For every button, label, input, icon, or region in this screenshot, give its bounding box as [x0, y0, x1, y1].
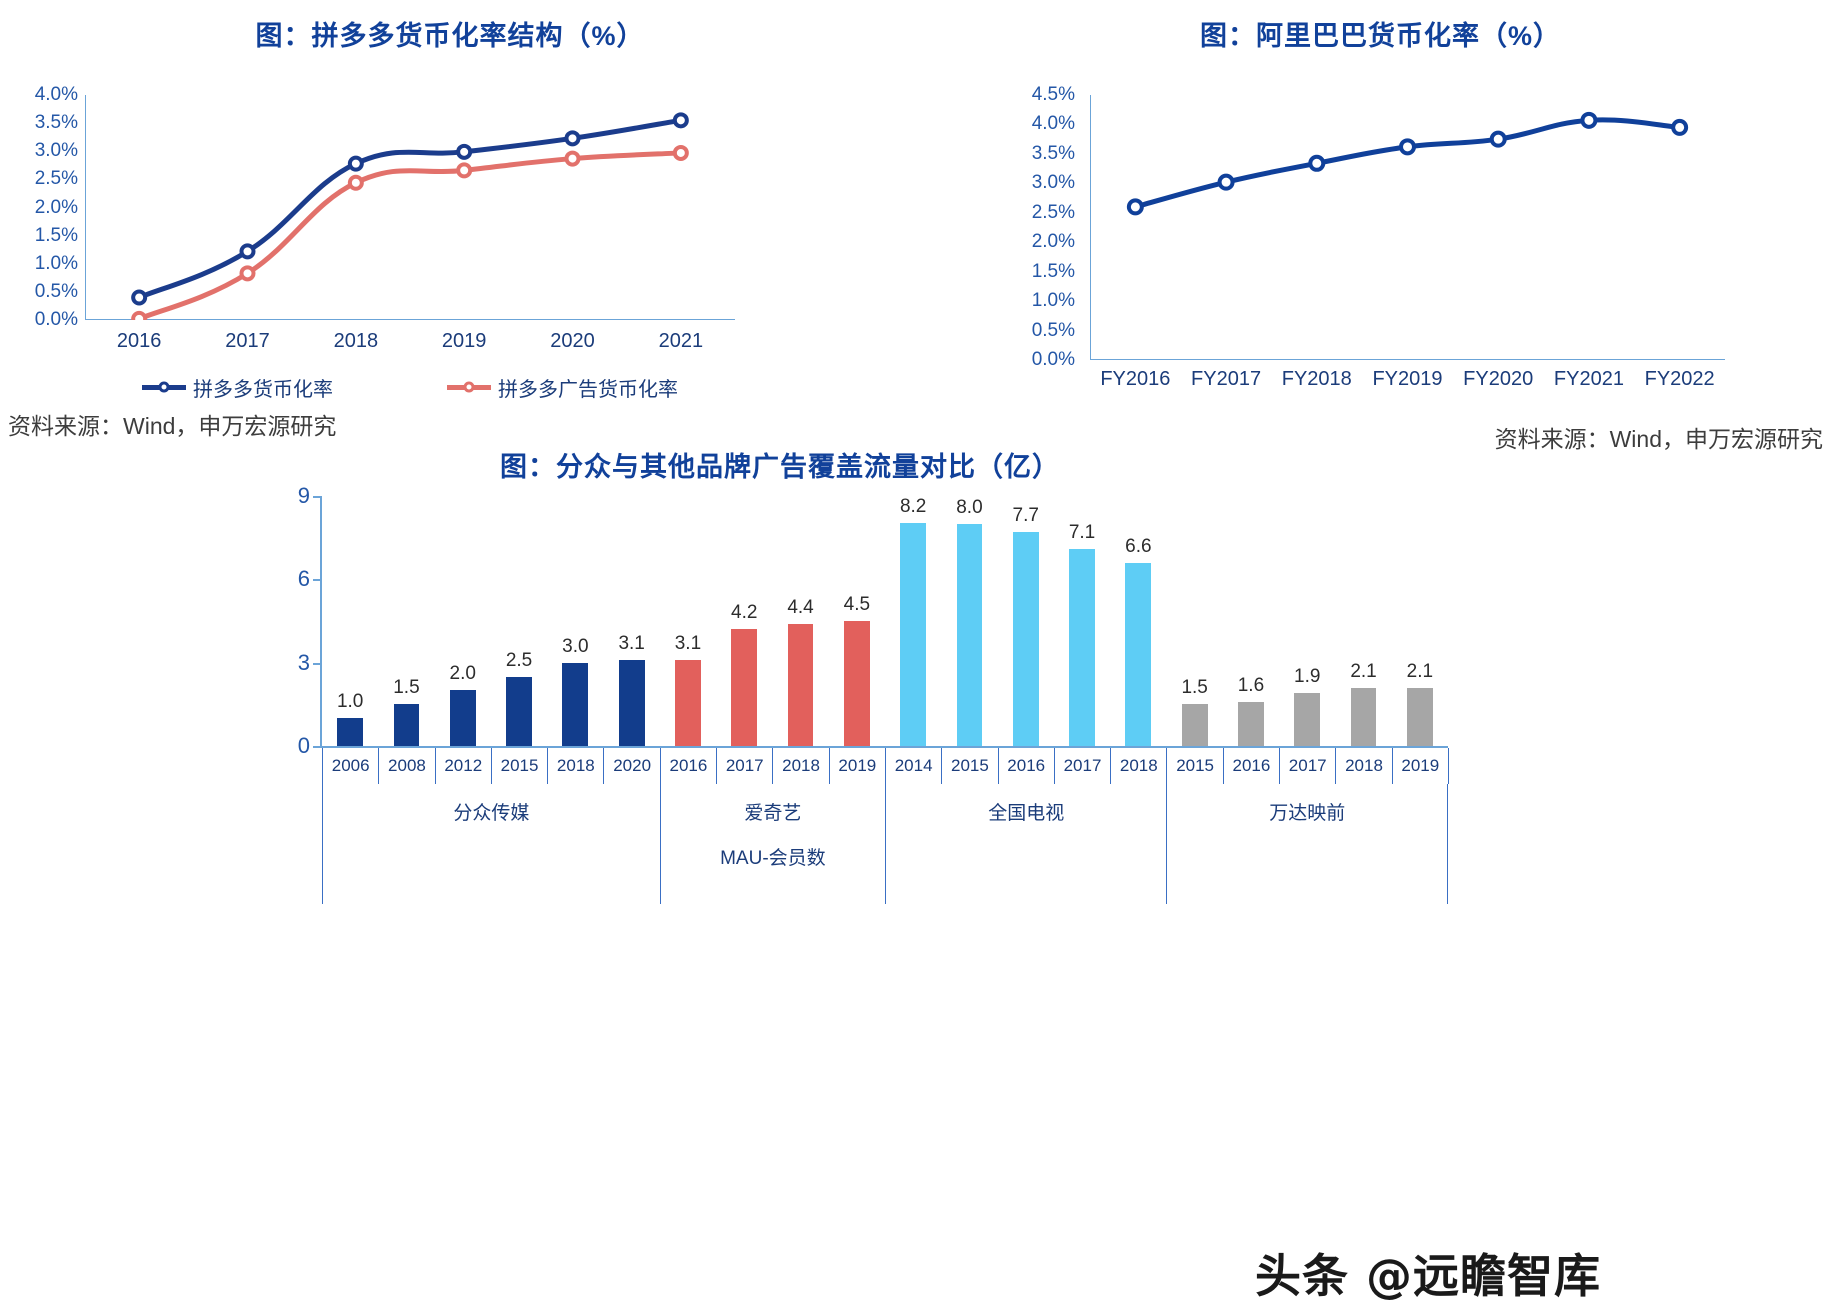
chart3-group-sublabel: MAU-会员数	[720, 843, 826, 870]
chart3-bar-value-label: 4.4	[787, 597, 813, 619]
chart3-bar-slot[interactable]: 3.1	[604, 496, 660, 746]
chart1-y-tick-label: 0.0%	[35, 309, 78, 331]
chart3-bar[interactable]	[337, 718, 363, 746]
chart3-category-label: 2019	[829, 748, 885, 784]
chart3-bar-slot[interactable]: 1.5	[378, 496, 434, 746]
chart2-x-tick-label: FY2019	[1372, 368, 1442, 391]
chart2-title: 图：阿里巴巴货币化率（%）	[930, 14, 1831, 53]
chart3-bar-slot[interactable]: 6.6	[1110, 496, 1166, 746]
chart3-category-label: 2015	[1166, 748, 1222, 784]
chart3-bar[interactable]	[900, 523, 926, 746]
chart3-bar-value-label: 3.1	[675, 633, 701, 655]
chart3-bar-value-label: 2.0	[450, 663, 476, 685]
legend-marker-icon	[159, 382, 170, 393]
chart3-group-row: 分众传媒爱奇艺MAU-会员数全国电视万达映前	[322, 784, 1448, 904]
chart3-bar-slot[interactable]: 7.7	[998, 496, 1054, 746]
chart3-category-label: 2016	[660, 748, 716, 784]
legend-line-swatch	[447, 385, 491, 390]
chart3-bar-value-label: 6.6	[1125, 536, 1151, 558]
chart3-bar-slot[interactable]: 2.0	[435, 496, 491, 746]
chart1-y-tick-label: 4.0%	[35, 84, 78, 106]
chart3-bar[interactable]	[450, 690, 476, 746]
chart3-y-tick-label: 3	[262, 650, 310, 676]
chart3-bar[interactable]	[1013, 532, 1039, 746]
chart3-bar[interactable]	[1125, 563, 1151, 746]
chart3-bar-slot[interactable]: 1.5	[1167, 496, 1223, 746]
chart2-y-tick-label: 1.5%	[1032, 261, 1075, 283]
chart2-y-tick-label: 3.0%	[1032, 172, 1075, 194]
chart2-x-tick-label: FY2016	[1100, 368, 1170, 391]
chart3-bar-slot[interactable]: 8.2	[885, 496, 941, 746]
chart1-x-tick-label: 2020	[550, 330, 595, 353]
chart1-legend-label: 拼多多货币化率	[193, 373, 333, 402]
chart3-bar[interactable]	[506, 677, 532, 746]
chart2-y-tick-label: 4.0%	[1032, 113, 1075, 135]
chart1-legend-item[interactable]: 拼多多广告货币化率	[447, 373, 678, 402]
chart2-x-axis-labels: FY2016FY2017FY2018FY2019FY2020FY2021FY20…	[1090, 368, 1725, 398]
chart3-category-label: 2019	[1392, 748, 1448, 784]
chart3-bar-slot[interactable]: 2.1	[1392, 496, 1448, 746]
chart3-group-label-cell: 爱奇艺MAU-会员数	[660, 784, 885, 904]
chart3-y-tick-mark	[313, 663, 321, 665]
chart3-category-label: 2017	[716, 748, 772, 784]
chart3-category-label: 2020	[603, 748, 659, 784]
chart3-bar-slot[interactable]: 1.9	[1279, 496, 1335, 746]
chart3-bar-slot[interactable]: 8.0	[941, 496, 997, 746]
chart3-bar[interactable]	[1351, 688, 1377, 746]
chart3-bar[interactable]	[394, 704, 420, 746]
chart3-bar-value-label: 8.0	[956, 497, 982, 519]
chart3-group-name: 分众传媒	[453, 798, 529, 825]
alibaba-monetization-chart-panel: 图：阿里巴巴货币化率（%） 0.0%0.5%1.0%1.5%2.0%2.5%3.…	[930, 0, 1831, 470]
chart2-x-tick-label: FY2022	[1645, 368, 1715, 391]
chart3-group-label-cell: 全国电视	[885, 784, 1167, 904]
brand-ad-traffic-chart-panel: 图：分众与其他品牌广告覆盖流量对比（亿） 1.01.52.02.53.03.13…	[0, 440, 1831, 1009]
chart1-plot-area	[85, 95, 735, 320]
chart3-bar-value-label: 3.0	[562, 636, 588, 658]
chart3-y-tick-mark	[313, 496, 321, 498]
chart3-bar-slot[interactable]: 4.4	[772, 496, 828, 746]
chart3-bar-slot[interactable]: 3.0	[547, 496, 603, 746]
chart3-bar[interactable]	[619, 660, 645, 746]
chart3-title: 图：分众与其他品牌广告覆盖流量对比（亿）	[0, 445, 1560, 484]
chart3-category-label: 2018	[1110, 748, 1166, 784]
chart1-y-tick-label: 1.0%	[35, 253, 78, 275]
chart3-y-tick-mark	[313, 746, 321, 748]
chart1-y-tick-label: 2.5%	[35, 168, 78, 190]
chart2-x-tick-label: FY2018	[1282, 368, 1352, 391]
chart1-y-tick-label: 1.5%	[35, 225, 78, 247]
chart2-y-tick-label: 2.5%	[1032, 202, 1075, 224]
chart3-category-label: 2018	[1335, 748, 1391, 784]
chart3-category-label: 2014	[885, 748, 941, 784]
chart3-group-label-cell: 万达映前	[1166, 784, 1448, 904]
chart3-bar[interactable]	[788, 624, 814, 746]
chart3-bar[interactable]	[1182, 704, 1208, 746]
chart3-category-label: 2012	[435, 748, 491, 784]
chart1-x-tick-label: 2021	[659, 330, 704, 353]
chart3-bar-value-label: 1.5	[393, 677, 419, 699]
chart3-y-tick-label: 9	[262, 483, 310, 509]
chart3-category-label: 2016	[998, 748, 1054, 784]
chart3-bar-value-label: 2.1	[1407, 661, 1433, 683]
chart3-bar-slot[interactable]: 3.1	[660, 496, 716, 746]
chart3-bar-value-label: 3.1	[618, 633, 644, 655]
chart2-y-tick-label: 0.5%	[1032, 320, 1075, 342]
pdd-monetization-chart-panel: 图：拼多多货币化率结构（%） 0.0%0.5%1.0%1.5%2.0%2.5%3…	[0, 0, 900, 510]
chart1-x-tick-label: 2016	[117, 330, 162, 353]
chart3-bar[interactable]	[562, 663, 588, 746]
watermark: 头条 @远瞻智库	[1255, 1240, 1585, 1300]
chart3-bar-value-label: 2.5	[506, 650, 532, 672]
legend-marker-icon	[464, 382, 475, 393]
chart3-bar[interactable]	[1069, 549, 1095, 746]
chart3-bar-slot[interactable]: 2.1	[1335, 496, 1391, 746]
chart2-y-tick-label: 2.0%	[1032, 231, 1075, 253]
chart3-bar[interactable]	[1238, 702, 1264, 746]
chart2-x-tick-label: FY2021	[1554, 368, 1624, 391]
chart3-group-name: 爱奇艺	[744, 798, 801, 825]
legend-line-swatch	[142, 385, 186, 390]
chart1-y-tick-label: 2.0%	[35, 197, 78, 219]
chart1-y-tick-label: 3.5%	[35, 112, 78, 134]
chart3-group-name: 万达映前	[1269, 798, 1345, 825]
chart1-y-tick-label: 3.0%	[35, 140, 78, 162]
chart3-category-label: 2008	[378, 748, 434, 784]
chart3-bar-value-label: 1.0	[337, 691, 363, 713]
page-title: 图：拼多多货币化率结构（%）	[0, 14, 900, 53]
chart1-svg	[85, 95, 735, 320]
chart1-legend-item[interactable]: 拼多多货币化率	[142, 373, 333, 402]
chart3-bar-slot[interactable]: 2.5	[491, 496, 547, 746]
chart3-y-tick-label: 6	[262, 566, 310, 592]
chart3-category-label: 2017	[1054, 748, 1110, 784]
chart3-bar-value-label: 8.2	[900, 496, 926, 518]
chart3-category-label: 2016	[1223, 748, 1279, 784]
chart1-x-tick-label: 2019	[442, 330, 487, 353]
chart3-bar-slot[interactable]: 1.6	[1223, 496, 1279, 746]
chart3-bar-value-label: 7.1	[1069, 522, 1095, 544]
chart3-category-label: 2018	[772, 748, 828, 784]
chart3-category-label: 2015	[491, 748, 547, 784]
chart3-y-tick-label: 0	[262, 733, 310, 759]
chart3-category-label: 2015	[941, 748, 997, 784]
chart2-plot-area	[1090, 95, 1725, 360]
chart2-y-tick-label: 0.0%	[1032, 349, 1075, 371]
chart3-category-label: 2017	[1279, 748, 1335, 784]
chart1-x-tick-label: 2017	[225, 330, 270, 353]
chart1-source-text: 资料来源：Wind，申万宏源研究	[8, 407, 336, 441]
chart1-x-tick-label: 2018	[334, 330, 379, 353]
chart2-x-tick-label: FY2017	[1191, 368, 1261, 391]
chart3-bar-value-label: 1.6	[1238, 675, 1264, 697]
chart3-bar[interactable]	[844, 621, 870, 746]
chart3-bar[interactable]	[675, 660, 701, 746]
chart3-bar[interactable]	[1294, 693, 1320, 746]
chart3-bar[interactable]	[731, 629, 757, 746]
chart3-category-row: 2006200820122015201820202016201720182019…	[322, 748, 1449, 784]
chart3-bar-value-label: 4.2	[731, 602, 757, 624]
chart3-bar-value-label: 2.1	[1350, 661, 1376, 683]
chart2-y-axis-labels: 0.0%0.5%1.0%1.5%2.0%2.5%3.0%3.5%4.0%4.5%	[990, 85, 1075, 370]
chart1-x-axis-labels: 201620172018201920202021	[85, 330, 735, 360]
chart3-bar-slot[interactable]: 1.0	[322, 496, 378, 746]
chart3-y-tick-mark	[313, 579, 321, 581]
chart2-svg	[1090, 95, 1725, 360]
chart3-bars: 1.01.52.02.53.03.13.14.24.44.58.28.07.77…	[322, 496, 1448, 746]
chart3-bar[interactable]	[1407, 688, 1433, 746]
chart3-bar[interactable]	[957, 524, 983, 746]
chart3-bar-slot[interactable]: 7.1	[1054, 496, 1110, 746]
chart3-bar-value-label: 7.7	[1013, 505, 1039, 527]
chart3-bar-slot[interactable]: 4.5	[829, 496, 885, 746]
chart1-legend: 拼多多货币化率拼多多广告货币化率	[85, 372, 735, 402]
chart3-group-label-cell: 分众传媒	[322, 784, 660, 904]
chart3-group-name: 全国电视	[988, 798, 1064, 825]
chart3-bar-value-label: 4.5	[844, 594, 870, 616]
chart2-y-tick-label: 1.0%	[1032, 290, 1075, 312]
chart3-bar-value-label: 1.5	[1181, 677, 1207, 699]
chart3-category-label: 2018	[547, 748, 603, 784]
chart2-y-tick-label: 3.5%	[1032, 143, 1075, 165]
chart1-y-axis-labels: 0.0%0.5%1.0%1.5%2.0%2.5%3.0%3.5%4.0%	[0, 85, 78, 330]
chart2-y-tick-label: 4.5%	[1032, 84, 1075, 106]
chart3-bar-value-label: 1.9	[1294, 666, 1320, 688]
chart1-y-tick-label: 0.5%	[35, 281, 78, 303]
chart3-category-label: 2006	[322, 748, 378, 784]
chart2-x-tick-label: FY2020	[1463, 368, 1533, 391]
chart1-legend-label: 拼多多广告货币化率	[498, 373, 678, 402]
chart3-bar-slot[interactable]: 4.2	[716, 496, 772, 746]
